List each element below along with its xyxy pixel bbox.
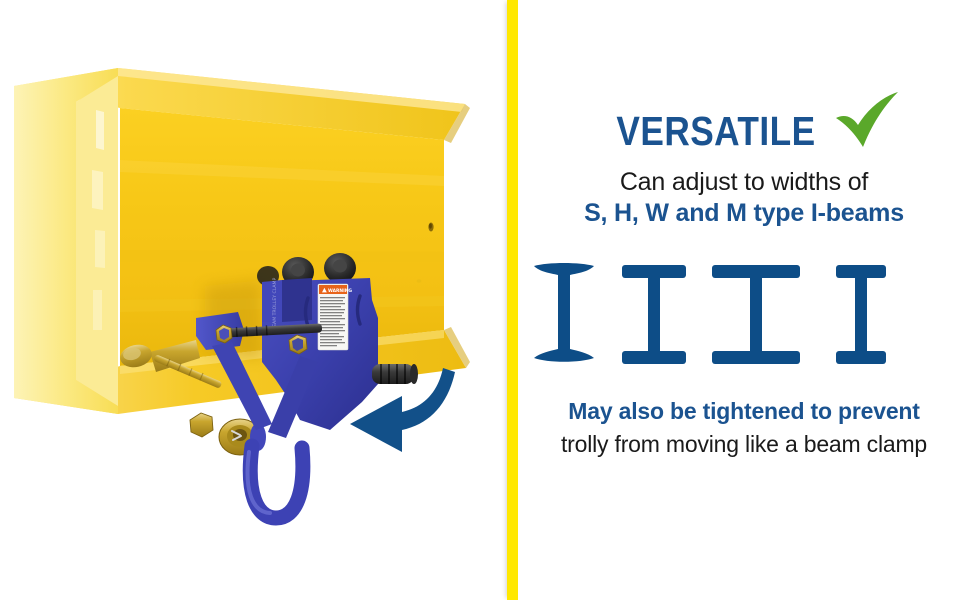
yellow-i-beam — [14, 68, 470, 414]
product-photo-panel: WARNING — [0, 0, 507, 600]
beam-trolley-clamp-product-photo: WARNING — [0, 0, 507, 600]
subtitle-line-1: Can adjust to widths of — [518, 168, 970, 198]
threaded-stub — [372, 364, 418, 384]
footer-line-2: trolly from moving like a beam clamp — [518, 430, 970, 459]
content-panel: VERSATILE Can adjust to widths of S, H, … — [518, 0, 970, 600]
i-beam-icon-row — [518, 258, 970, 370]
i-beam-icon-s-type — [534, 263, 594, 362]
i-beam-icons-svg — [518, 258, 970, 370]
i-beam-icon-w-type — [712, 265, 800, 364]
footer-line-1: May also be tightened to prevent — [518, 397, 970, 426]
headline-row: VERSATILE — [518, 108, 970, 154]
svg-text:BEAM TROLLEY CLAMP: BEAM TROLLEY CLAMP — [272, 278, 278, 330]
green-check-icon — [830, 92, 904, 154]
subtitle-line-2: S, H, W and M type I-beams — [518, 199, 970, 229]
svg-text:WARNING: WARNING — [328, 288, 352, 294]
infographic-canvas: WARNING — [0, 0, 970, 600]
i-beam-icon-h-type — [622, 265, 686, 364]
i-beam-icon-m-type — [836, 265, 886, 364]
page-title: VERSATILE — [617, 111, 816, 152]
yellow-divider — [507, 0, 518, 600]
warning-label: WARNING — [318, 284, 352, 350]
